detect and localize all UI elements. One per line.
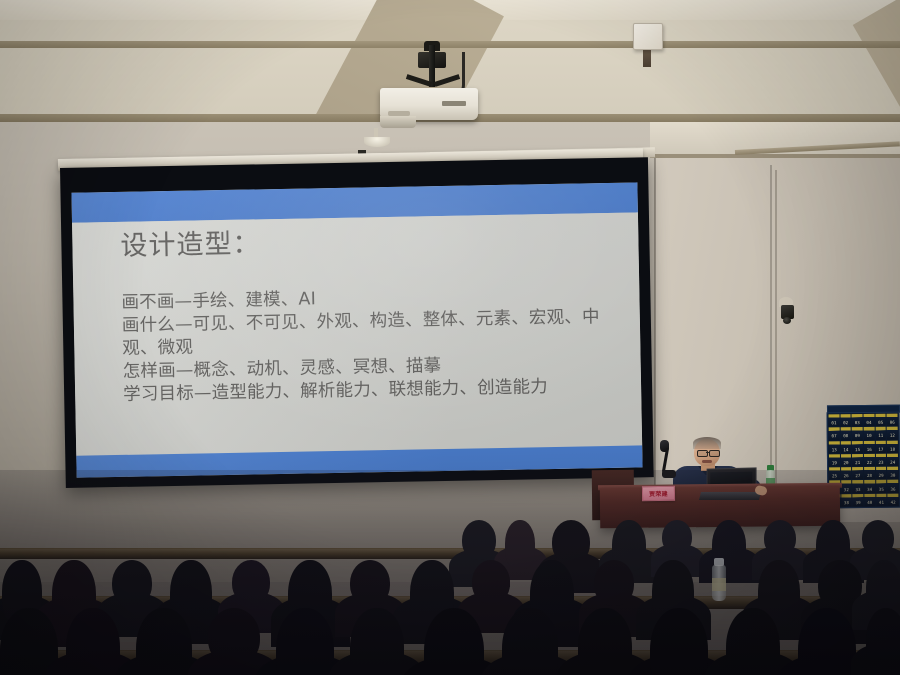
number-board-cell: 17 (875, 440, 886, 452)
number-board-cell: 16 (864, 440, 875, 452)
audience-head (662, 520, 692, 554)
number-board-cell: 01 (829, 414, 840, 426)
audience-head (232, 560, 270, 604)
projection-screen: 设计造型： 画不画—手绘、建模、AI 画什么—可见、不可见、外观、构造、整体、元… (60, 157, 654, 488)
speaker-mouth (702, 460, 712, 463)
number-board-cell: 23 (876, 454, 887, 466)
wall-speaker-stem (643, 47, 651, 67)
number-board-cell: 10 (864, 427, 875, 439)
laptop-base (699, 492, 761, 500)
number-board-cell: 08 (840, 427, 851, 439)
number-board-cell: 11 (875, 427, 886, 439)
audience-head-long-hair (578, 608, 632, 675)
number-board-cell: 34 (864, 480, 875, 492)
number-board-cell: 18 (887, 440, 898, 452)
number-board-cell: 06 (887, 414, 898, 426)
number-board-cell: 04 (864, 414, 875, 426)
number-board-cell: 36 (888, 480, 899, 492)
number-board-cell: 33 (853, 480, 864, 492)
slide-title: 设计造型： (120, 221, 261, 263)
audience-head-long-hair (350, 608, 404, 675)
audience-head-long-hair (502, 608, 558, 675)
audience-head (594, 560, 634, 606)
number-board-cell: 09 (852, 427, 863, 439)
audience-head (552, 520, 590, 564)
speaker-glasses-bridge (706, 452, 710, 453)
audience-head (764, 520, 796, 556)
number-board-cell: 12 (887, 427, 898, 439)
audience-head (208, 608, 260, 666)
speaker-nameplate-text: 贾荣建 (649, 489, 668, 498)
audience-head (112, 560, 152, 606)
number-board-cell: 19 (829, 454, 840, 466)
number-board-cell: 25 (829, 467, 840, 479)
audience-head-long-hair (136, 608, 192, 675)
number-board-cell: 42 (888, 493, 899, 505)
audience-bottle-label (712, 578, 726, 591)
number-board-cell: 35 (876, 480, 887, 492)
number-board-cell: 22 (864, 454, 875, 466)
number-board-cell: 02 (840, 414, 851, 426)
lecture-hall-screenshot: 设计造型： 画不画—手绘、建模、AI 画什么—可见、不可见、外观、构造、整体、元… (0, 0, 900, 675)
number-board-cell: 03 (852, 414, 863, 426)
audience-head (462, 520, 496, 560)
wall-trim-upper (0, 41, 900, 48)
projector-brand-mark (442, 101, 466, 106)
number-board-cell: 41 (876, 493, 887, 505)
projector-lens-icon (380, 116, 416, 128)
number-board-cell: 27 (852, 467, 863, 479)
number-board-cell: 28 (864, 467, 875, 479)
speaker-nameplate: 贾荣建 (642, 486, 675, 501)
number-board-cell: 14 (840, 441, 851, 453)
number-board-cell: 38 (841, 494, 852, 506)
number-board-cell: 40 (864, 494, 875, 506)
speaker-glasses-right-icon (709, 450, 720, 457)
ceiling-light (364, 137, 390, 147)
audience-head (862, 520, 894, 556)
audience-head-long-hair (66, 608, 120, 675)
number-board-cell: 15 (852, 441, 863, 453)
audience-head-long-hair (866, 608, 900, 673)
speaker-hair (693, 437, 721, 449)
number-board-cell: 30 (887, 467, 898, 479)
number-board-cell: 05 (875, 414, 886, 426)
audience-head (472, 560, 510, 604)
wall-speaker-box (633, 23, 663, 50)
audience-head-long-hair (726, 608, 780, 675)
number-board-cell: 26 (841, 467, 852, 479)
number-board-cell: 20 (841, 454, 852, 466)
number-board-cell: 07 (829, 428, 840, 440)
number-board-cell: 29 (876, 467, 887, 479)
number-board-cell: 32 (841, 481, 852, 493)
slide-surface: 设计造型： 画不画—手绘、建模、AI 画什么—可见、不可见、外观、构造、整体、元… (71, 182, 642, 477)
number-board-cell: 24 (887, 453, 898, 465)
wall-conduit (775, 170, 777, 500)
number-board-cell: 13 (829, 441, 840, 453)
right-soffit-edge (650, 154, 900, 158)
right-wall-edge (654, 122, 656, 522)
audience-head-long-hair (505, 520, 535, 569)
number-board-cell: 39 (853, 494, 864, 506)
number-board-cell: 21 (852, 454, 863, 466)
microphone-base (662, 470, 676, 478)
audience-head (350, 560, 390, 606)
wall-camera-lens-icon (783, 317, 791, 324)
slide-bullet-list: 画不画—手绘、建模、AI 画什么—可见、不可见、外观、构造、整体、元素、宏观、中… (121, 283, 625, 407)
